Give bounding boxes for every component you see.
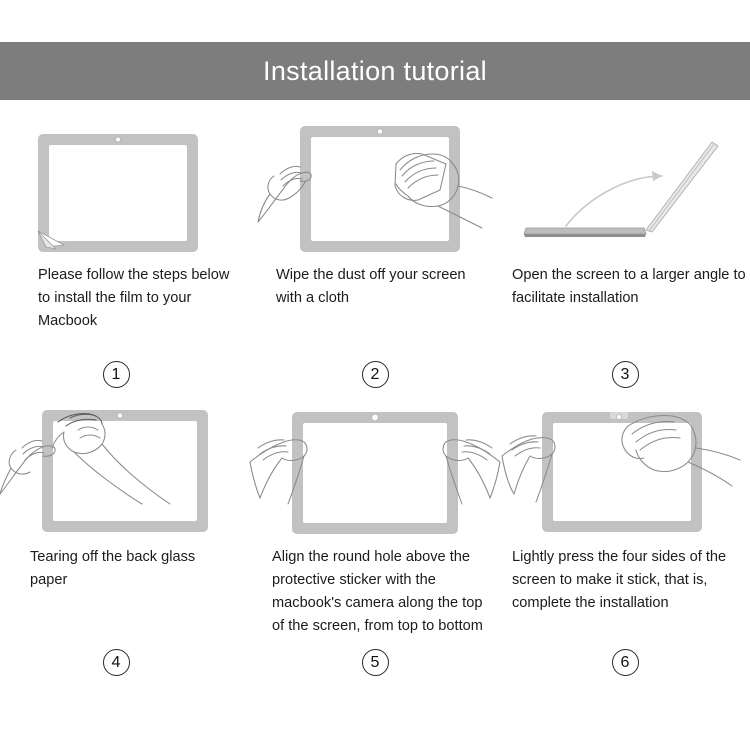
step-card-1: Please follow the steps below to install… — [0, 118, 250, 400]
illustration-hands-tearing-back-glass-paper — [0, 400, 250, 540]
step-number-label-5: 5 — [371, 655, 380, 671]
step-caption-6: Lightly press the four sides of the scre… — [500, 540, 750, 615]
step-number-badge-6: 6 — [612, 649, 639, 676]
step-number-label-3: 3 — [621, 367, 630, 383]
steps-grid: Please follow the steps below to install… — [0, 118, 750, 690]
step-card-4: Tearing off the back glass paper 4 — [0, 400, 250, 690]
illustration-two-hands-aligning-film-on-screen — [250, 400, 500, 540]
step-number-label-2: 2 — [371, 367, 380, 383]
illustration-screen-with-peeling-film-corner — [0, 118, 250, 258]
step-number-badge-2: 2 — [362, 361, 389, 388]
step-number-badge-4: 4 — [103, 649, 130, 676]
illustration-hands-wiping-screen-with-cloth — [250, 118, 500, 258]
step-caption-1: Please follow the steps below to install… — [0, 258, 250, 333]
step-number-label-1: 1 — [112, 367, 121, 383]
steps-row-bottom: Tearing off the back glass paper 4 — [0, 400, 750, 690]
header-banner: Installation tutorial — [0, 42, 750, 100]
step-caption-4: Tearing off the back glass paper — [0, 540, 250, 592]
step-card-6: Lightly press the four sides of the scre… — [500, 400, 750, 690]
step-number-badge-5: 5 — [362, 649, 389, 676]
illustration-hand-pressing-film-onto-screen — [500, 400, 750, 540]
step-card-3: Open the screen to a larger angle to fac… — [500, 118, 750, 400]
step-caption-2: Wipe the dust off your screen with a clo… — [250, 258, 500, 310]
steps-row-top: Please follow the steps below to install… — [0, 118, 750, 400]
step-number-label-6: 6 — [621, 655, 630, 671]
step-card-2: Wipe the dust off your screen with a clo… — [250, 118, 500, 400]
step-caption-3: Open the screen to a larger angle to fac… — [500, 258, 750, 310]
step-caption-5: Align the round hole above the protectiv… — [250, 540, 500, 638]
step-number-badge-3: 3 — [612, 361, 639, 388]
step-number-label-4: 4 — [112, 655, 121, 671]
step-card-5: Align the round hole above the protectiv… — [250, 400, 500, 690]
illustration-laptop-side-view-opening-arrow — [500, 118, 750, 258]
page-title: Installation tutorial — [263, 58, 487, 85]
step-number-badge-1: 1 — [103, 361, 130, 388]
